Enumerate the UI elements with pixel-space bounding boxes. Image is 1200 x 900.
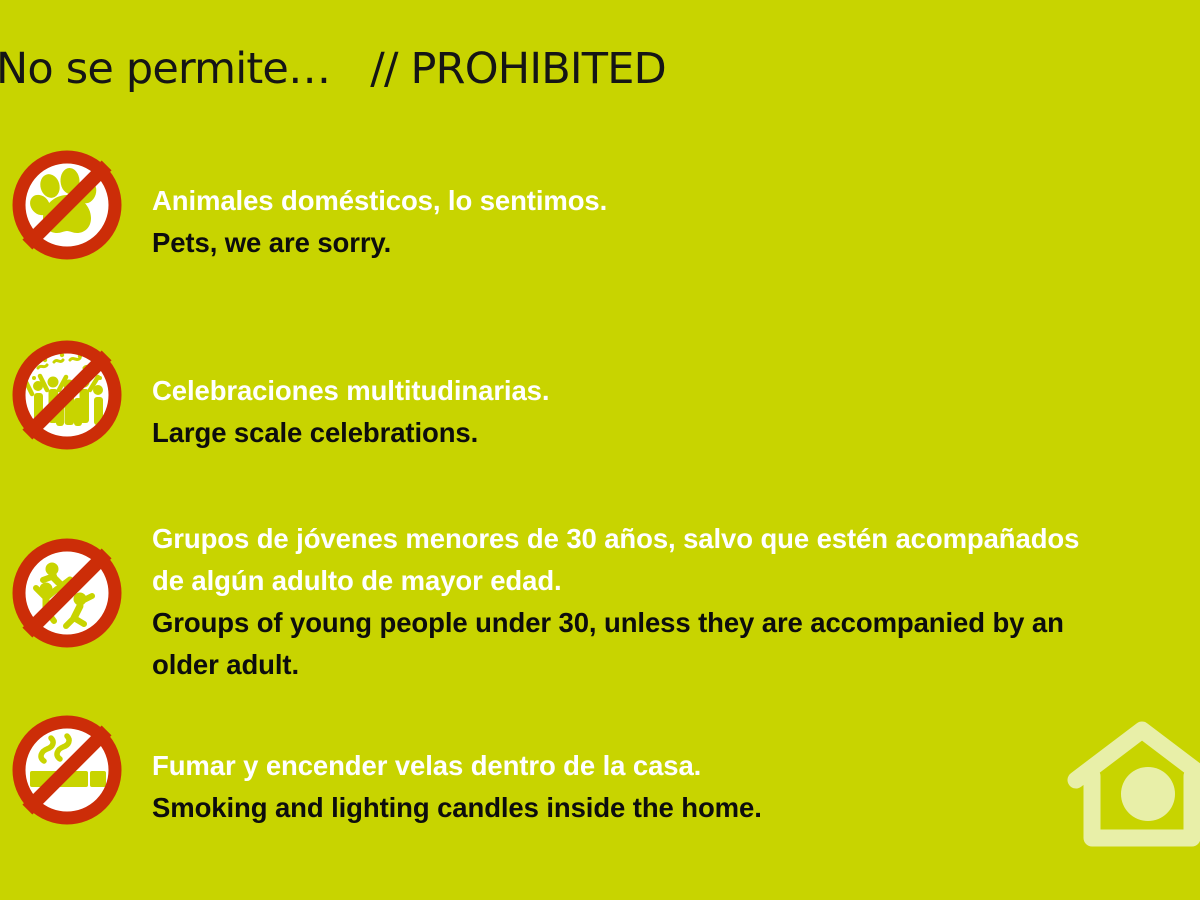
rule-spanish-line-2: de algún adulto de mayor edad.: [152, 560, 1200, 602]
rule-spanish-line: Grupos de jóvenes menores de 30 años, sa…: [152, 518, 1200, 560]
page-title-english: // PROHIBITED: [370, 48, 666, 91]
no-large-celebrations-icon: [10, 338, 124, 452]
rule-english-line: Smoking and lighting candles inside the …: [152, 787, 1200, 829]
page-title-spanish: No se permite…: [0, 48, 330, 91]
rule-english-line: Large scale celebrations.: [152, 412, 1200, 454]
rule-spanish-line: Celebraciones multitudinarias.: [152, 370, 1200, 412]
rule-text-pets: Animales domésticos, lo sentimos. Pets, …: [152, 180, 1200, 264]
rule-english-line-2: older adult.: [152, 644, 1200, 686]
prohibited-rules-slide: No se permite… // PROHIBITED: [0, 0, 1200, 900]
no-smoking-candles-icon: [10, 713, 124, 827]
rule-spanish-line: Animales domésticos, lo sentimos.: [152, 180, 1200, 222]
no-pets-icon: [10, 148, 124, 262]
rule-text-celebrations: Celebraciones multitudinarias. Large sca…: [152, 370, 1200, 454]
rule-text-young-groups: Grupos de jóvenes menores de 30 años, sa…: [152, 518, 1200, 686]
rule-text-smoking: Fumar y encender velas dentro de la casa…: [152, 745, 1200, 829]
rule-english-line: Groups of young people under 30, unless …: [152, 602, 1200, 644]
rule-english-line: Pets, we are sorry.: [152, 222, 1200, 264]
page-title: No se permite… // PROHIBITED: [0, 48, 1096, 112]
rule-spanish-line: Fumar y encender velas dentro de la casa…: [152, 745, 1200, 787]
no-young-groups-icon: [10, 536, 124, 650]
